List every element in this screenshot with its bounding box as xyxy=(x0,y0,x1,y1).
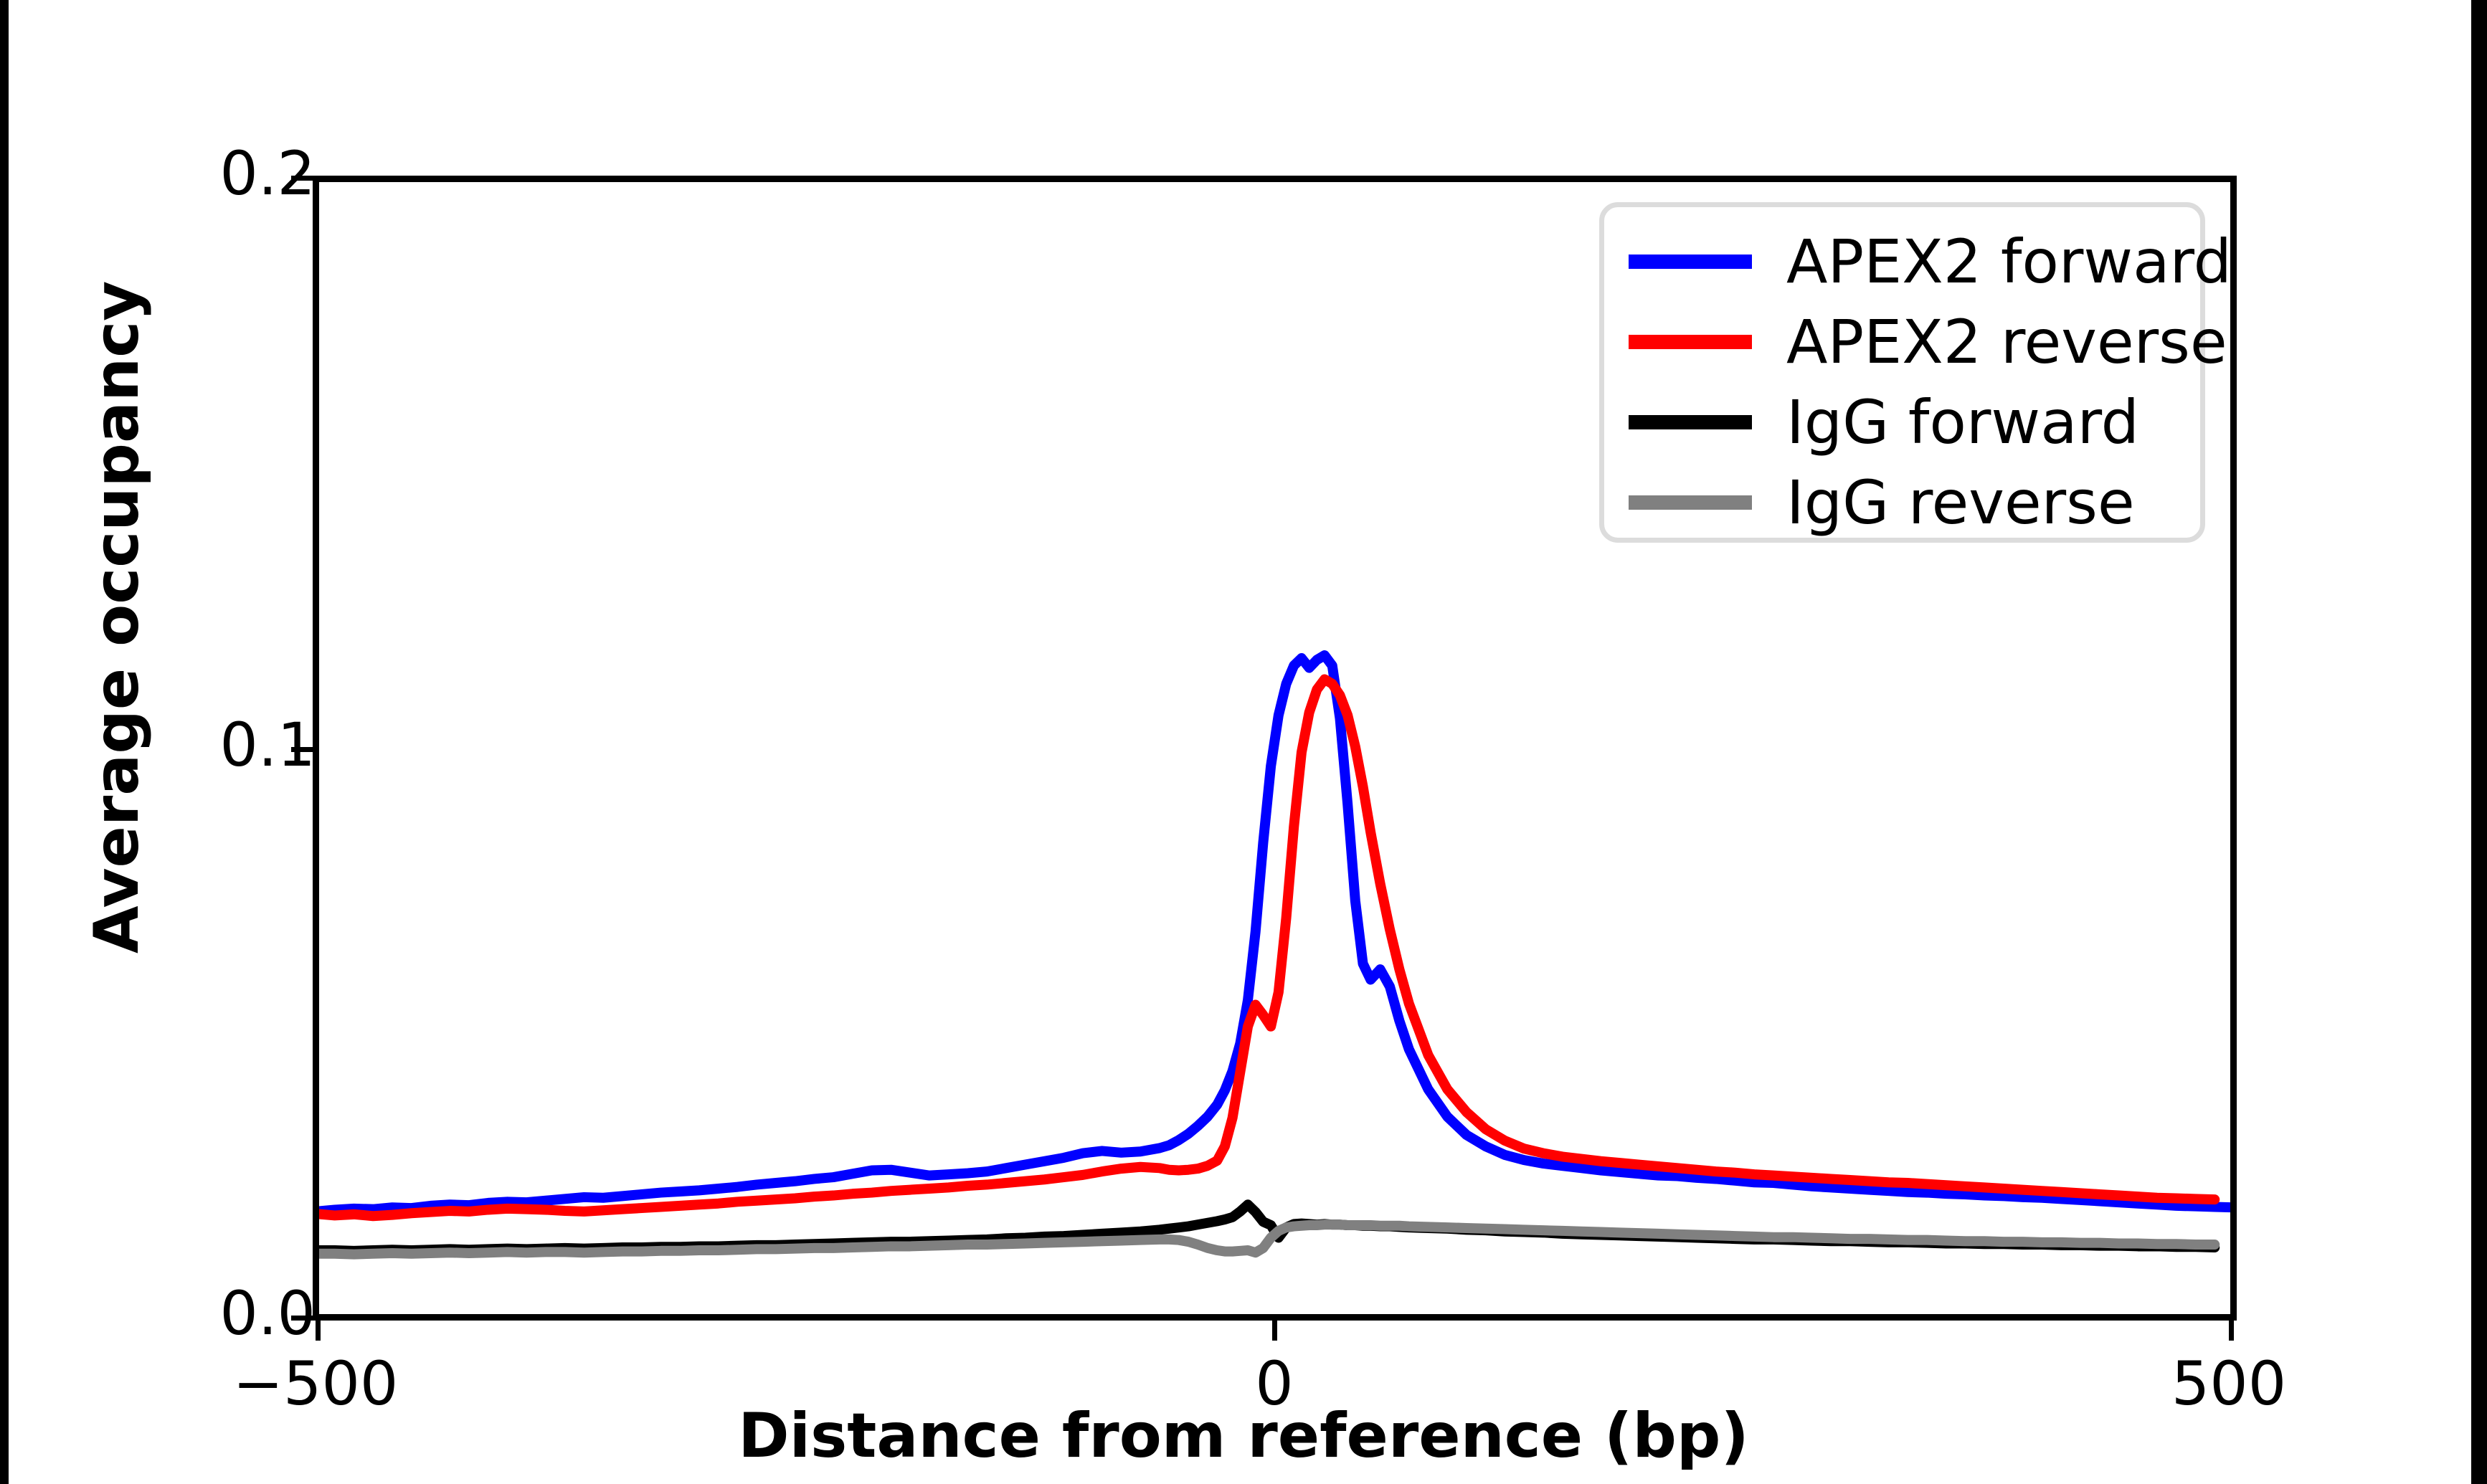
series-line-apex2-forward xyxy=(316,655,2234,1212)
occupancy-line-chart: 0.2 0.1 0.0 −500 0 500 Average occupancy… xyxy=(0,0,2487,1484)
y-axis-title: Average occupancy xyxy=(86,281,148,953)
x-tick-0 xyxy=(1272,1319,1277,1341)
legend-swatch-apex2-reverse xyxy=(1629,335,1752,349)
legend-swatch-igg-forward xyxy=(1629,415,1752,429)
legend-label-igg-forward: IgG forward xyxy=(1786,392,2139,452)
axis-spine-top xyxy=(316,176,2234,182)
legend-item-apex2-forward[interactable]: APEX2 forward xyxy=(1629,222,2232,302)
legend-label-apex2-reverse: APEX2 reverse xyxy=(1786,312,2227,372)
y-ticklabel-0.1: 0.1 xyxy=(219,715,316,775)
figure-canvas: 0.2 0.1 0.0 −500 0 500 Average occupancy… xyxy=(0,0,2487,1484)
legend-label-igg-reverse: IgG reverse xyxy=(1786,472,2135,533)
x-axis-title: Distance from reference (bp) xyxy=(0,1405,2487,1467)
legend-item-igg-forward[interactable]: IgG forward xyxy=(1629,382,2139,462)
series-line-igg-reverse xyxy=(316,1224,2214,1254)
series-line-apex2-reverse xyxy=(316,680,2214,1217)
x-tick--500 xyxy=(316,1319,321,1341)
legend-swatch-igg-reverse xyxy=(1629,495,1752,510)
y-ticklabel-0.2: 0.2 xyxy=(219,143,316,204)
chart-legend: APEX2 forward APEX2 reverse IgG forward … xyxy=(1599,202,2205,543)
legend-label-apex2-forward: APEX2 forward xyxy=(1786,232,2232,292)
legend-item-apex2-reverse[interactable]: APEX2 reverse xyxy=(1629,302,2227,382)
axis-spine-right xyxy=(2230,176,2237,1321)
x-tick-500 xyxy=(2229,1319,2234,1341)
legend-item-igg-reverse[interactable]: IgG reverse xyxy=(1629,462,2135,543)
legend-swatch-apex2-forward xyxy=(1629,255,1752,269)
y-ticklabel-0.0: 0.0 xyxy=(219,1283,316,1343)
